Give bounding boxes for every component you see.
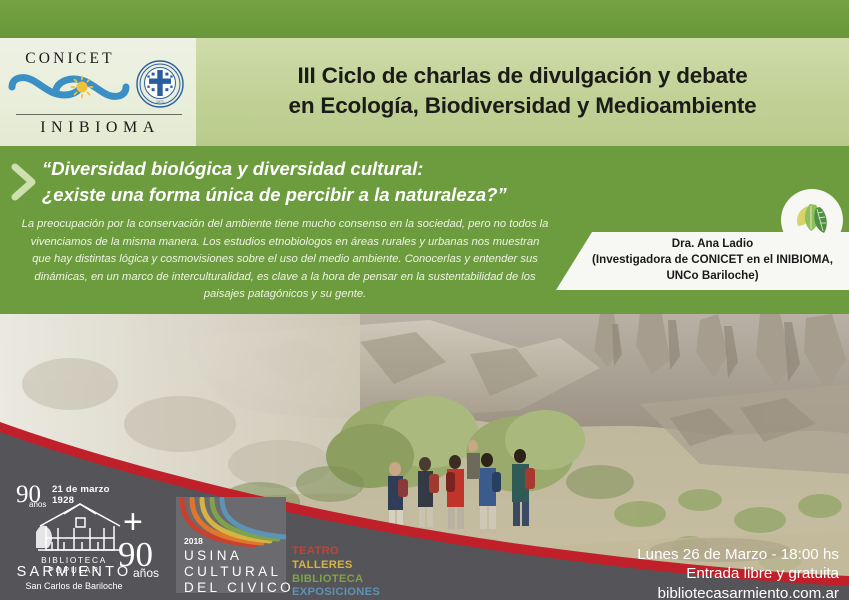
usina-line-3: DEL CIVICO xyxy=(184,580,294,595)
event-details: Lunes 26 de Marzo - 18:00 hs Entrada lib… xyxy=(539,545,839,600)
talk-title-line-2: ¿existe una forma única de percibir a la… xyxy=(42,182,602,208)
institution-logo-panel: CONICET xyxy=(0,38,196,146)
talk-abstract: La preocupación por la conservación del … xyxy=(20,216,550,304)
chevron-right-icon xyxy=(9,162,39,202)
title-line-2: en Ecología, Biodiversidad y Medioambien… xyxy=(289,91,757,121)
event-datetime: Lunes 26 de Marzo - 18:00 hs xyxy=(539,545,839,564)
title-line-1: III Ciclo de charlas de divulgación y de… xyxy=(289,61,757,91)
leaves-icon xyxy=(790,198,834,242)
usina-line-2: CULTURAL xyxy=(184,564,281,579)
library-name-line-2: SARMIENTO xyxy=(14,564,134,580)
inibioma-wordmark: INIBIOMA xyxy=(12,119,188,137)
speaker-affiliation-line-1: (Investigadora de CONICET en el INIBIOMA… xyxy=(576,252,849,268)
talk-title: “Diversidad biológica y diversidad cultu… xyxy=(42,156,602,209)
usina-line-1: USINA xyxy=(184,548,242,563)
conicet-infinity-icon xyxy=(8,70,130,104)
library-name-line-3: San Carlos de Bariloche xyxy=(14,581,134,591)
usina-year: 2018 xyxy=(184,536,203,546)
inibioma-leaf-badge xyxy=(781,189,843,251)
poster-root: CONICET xyxy=(0,0,849,600)
library-building-icon xyxy=(34,498,126,554)
usina-tag-exposiciones: EXPOSICIONES xyxy=(292,586,380,600)
usina-tag-talleres: TALLERES xyxy=(292,559,380,573)
conicet-wordmark: CONICET xyxy=(14,50,126,68)
usina-tag-teatro: TEATRO xyxy=(292,545,380,559)
page-title: III Ciclo de charlas de divulgación y de… xyxy=(289,61,757,122)
event-admission: Entrada libre y gratuita xyxy=(539,564,839,583)
speaker-affiliation-line-2: UNCo Bariloche) xyxy=(576,268,849,284)
svg-text:1971: 1971 xyxy=(156,100,164,104)
unco-seal-icon: 1971 xyxy=(136,60,184,108)
plus-symbol: + xyxy=(123,505,143,539)
usina-activity-tags: TEATRO TALLERES BIBLIOTECA EXPOSICIONES xyxy=(292,545,380,600)
top-green-band xyxy=(0,0,849,38)
plus-anniversary-unit: años xyxy=(133,566,159,580)
conicet-inibioma-logo: CONICET xyxy=(8,44,188,140)
event-title-panel: III Ciclo de charlas de divulgación y de… xyxy=(196,38,849,146)
biblioteca-sarmiento-logo: 90 años 21 de marzo 1928 BIBLIOTECA POPU… xyxy=(14,482,134,594)
logo-divider xyxy=(16,114,182,115)
usina-tag-biblioteca: BIBLIOTECA xyxy=(292,573,380,587)
event-website[interactable]: bibliotecasarmiento.com.ar xyxy=(539,584,839,600)
talk-title-line-1: “Diversidad biológica y diversidad cultu… xyxy=(42,156,602,182)
